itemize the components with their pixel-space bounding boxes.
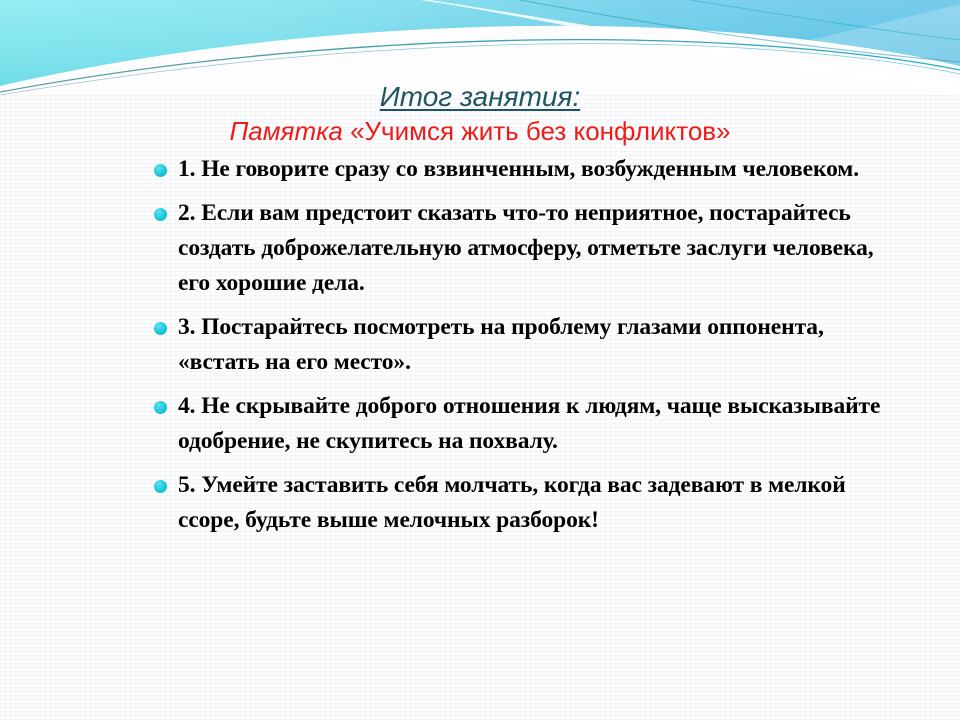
list-item-text: 4. Не скрывайте доброго отношения к людя… [178, 389, 888, 459]
list-item: 1. Не говорите сразу со взвинченным, воз… [148, 152, 888, 187]
subtitle-rest: «Учимся жить без конфликтов» [343, 116, 731, 146]
list-item-text: 3. Постарайтесь посмотреть на проблему г… [178, 310, 888, 380]
list-item-text: 5. Умейте заставить себя молчать, когда … [178, 468, 888, 538]
title-block: Итог занятия: Памятка «Учимся жить без к… [0, 80, 960, 148]
memo-bullet-list: 1. Не говорите сразу со взвинченным, воз… [148, 152, 888, 538]
list-item-text: 2. Если вам предстоит сказать что-то неп… [178, 196, 888, 301]
list-item: 5. Умейте заставить себя молчать, когда … [148, 468, 888, 538]
bullet-dot-icon [154, 164, 167, 177]
bullet-dot-icon [154, 401, 167, 414]
bullet-dot-icon [154, 208, 167, 221]
bullet-dot-icon [154, 480, 167, 493]
list-item: 2. Если вам предстоит сказать что-то неп… [148, 196, 888, 301]
slide-canvas: Итог занятия: Памятка «Учимся жить без к… [0, 0, 960, 720]
bullet-dot-icon [154, 322, 167, 335]
list-item: 3. Постарайтесь посмотреть на проблему г… [148, 310, 888, 380]
subtitle-emphasis: Памятка [229, 116, 342, 146]
slide-subtitle: Памятка «Учимся жить без конфликтов» [0, 114, 960, 148]
list-item-text: 1. Не говорите сразу со взвинченным, воз… [178, 152, 888, 187]
slide-title: Итог занятия: [0, 80, 960, 114]
list-item: 4. Не скрывайте доброго отношения к людя… [148, 389, 888, 459]
